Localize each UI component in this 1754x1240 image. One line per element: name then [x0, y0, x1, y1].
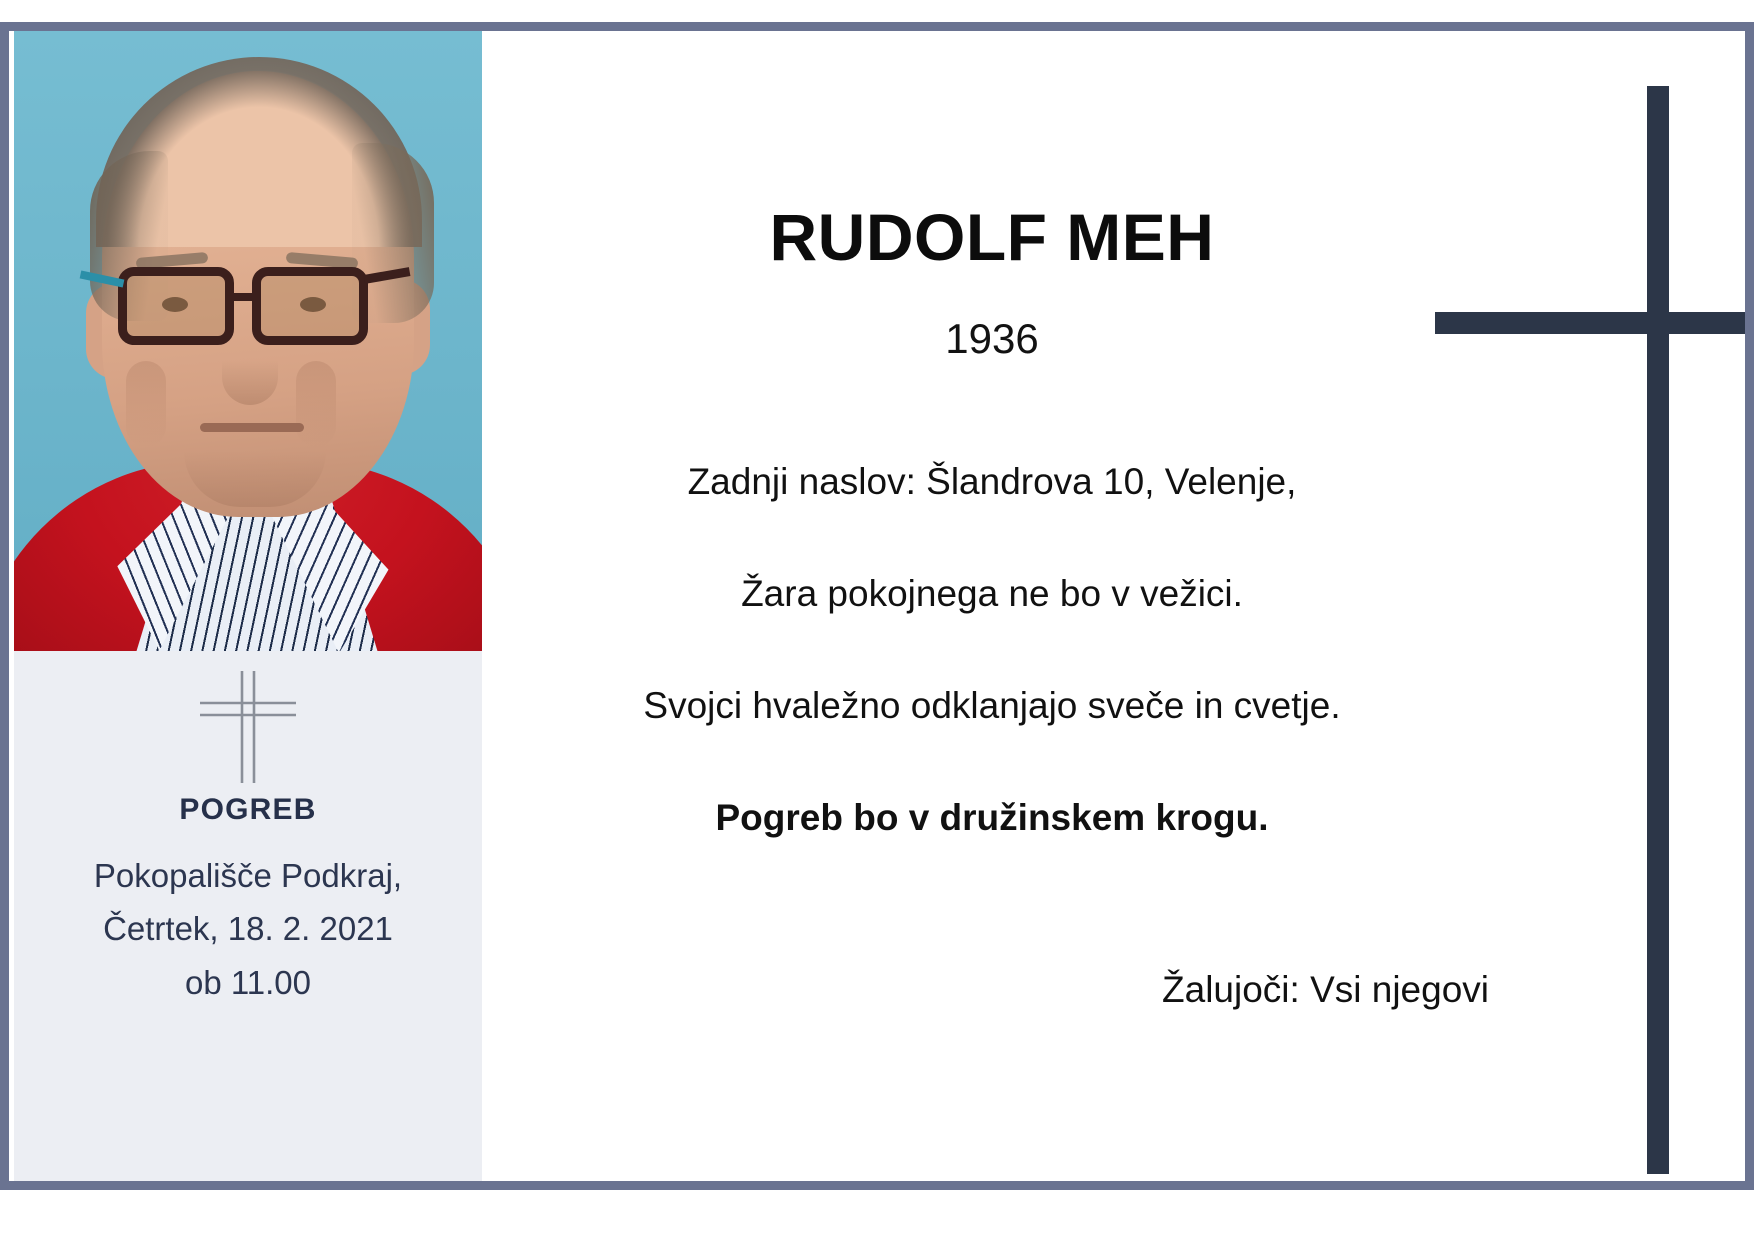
- glasses-lens-left: [118, 267, 234, 345]
- obituary-notice-card: POGREB Pokopališče Podkraj, Četrtek, 18.…: [0, 22, 1754, 1190]
- funeral-time: ob 11.00: [14, 956, 482, 1009]
- portrait-photo: [14, 31, 482, 651]
- deceased-name: RUDOLF MEH: [482, 199, 1502, 275]
- glasses-bridge: [230, 293, 256, 301]
- notice-line-emphasis: Pogreb bo v družinskem krogu.: [482, 797, 1502, 839]
- notice-line: Žara pokojnega ne bo v vežici.: [482, 573, 1502, 615]
- portrait-nose: [222, 331, 278, 405]
- cross-icon: [14, 667, 482, 787]
- portrait-cheek-left: [126, 361, 166, 447]
- funeral-details: Pokopališče Podkraj, Četrtek, 18. 2. 202…: [14, 849, 482, 1009]
- portrait-cheek-right: [296, 361, 336, 447]
- notice-line: Zadnji naslov: Šlandrova 10, Velenje,: [482, 461, 1502, 503]
- mourners-line: Žalujoči: Vsi njegovi: [482, 969, 1489, 1011]
- notice-inner: POGREB Pokopališče Podkraj, Četrtek, 18.…: [9, 31, 1745, 1181]
- portrait-mouth: [200, 423, 304, 432]
- funeral-heading: POGREB: [14, 793, 482, 827]
- funeral-place: Pokopališče Podkraj,: [14, 849, 482, 902]
- left-panel: POGREB Pokopališče Podkraj, Četrtek, 18.…: [14, 31, 482, 1181]
- birth-year: 1936: [482, 315, 1502, 363]
- funeral-date: Četrtek, 18. 2. 2021: [14, 902, 482, 955]
- notice-body: Zadnji naslov: Šlandrova 10, Velenje, Ža…: [482, 461, 1502, 839]
- notice-line: Svojci hvaležno odklanjajo sveče in cvet…: [482, 685, 1502, 727]
- right-panel: RUDOLF MEH 1936 Zadnji naslov: Šlandrova…: [482, 31, 1745, 1181]
